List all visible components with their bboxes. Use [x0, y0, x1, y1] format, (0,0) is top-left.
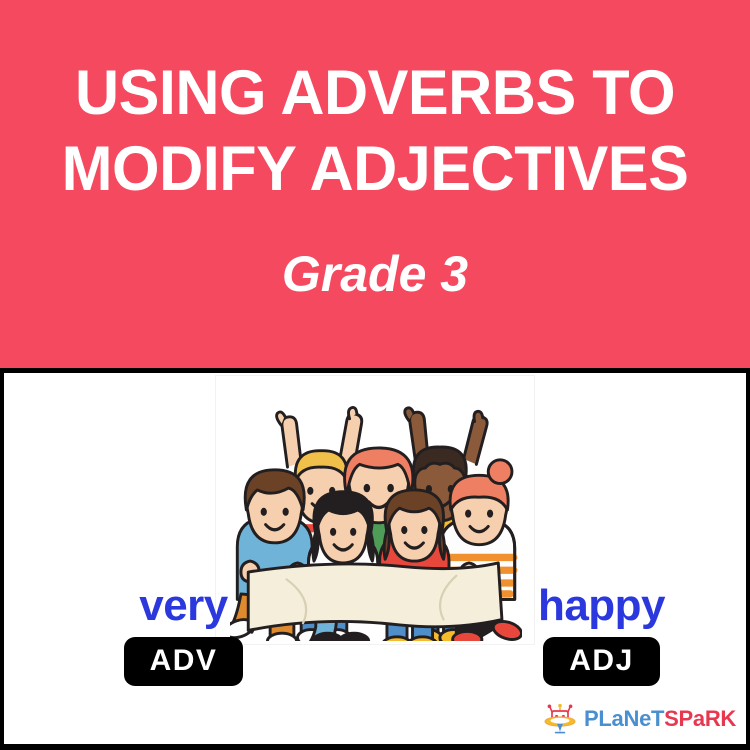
example-card-adverb: very ADV	[66, 583, 301, 686]
adjective-word: happy	[484, 583, 719, 629]
lesson-slide: USING ADVERBS TO MODIFY ADJECTIVES Grade…	[0, 0, 750, 750]
adverb-word: very	[66, 583, 301, 629]
frame-border-bottom	[0, 744, 750, 750]
status-badge-adv: ADV	[124, 637, 244, 686]
status-badge-adj: ADJ	[543, 637, 660, 686]
logo-text-spark: SPaRK	[664, 706, 736, 731]
logo-text-planet: PLaNeT	[584, 706, 664, 731]
frame-border-right	[746, 368, 750, 750]
grade-subtitle: Grade 3	[282, 246, 468, 302]
example-card-adjective: happy ADJ	[484, 583, 719, 686]
title-line-1: USING ADVERBS TO	[29, 58, 722, 128]
planetspark-logo: PLaNeTSPaRK	[543, 704, 736, 734]
planetspark-robot-icon	[543, 704, 577, 734]
slide-header: USING ADVERBS TO MODIFY ADJECTIVES Grade…	[0, 0, 750, 368]
page-title: USING ADVERBS TO MODIFY ADJECTIVES	[11, 0, 739, 204]
title-line-2: MODIFY ADJECTIVES	[29, 134, 722, 204]
planetspark-wordmark: PLaNeTSPaRK	[584, 708, 736, 730]
slide-body: very ADV happy ADJ	[4, 373, 746, 744]
